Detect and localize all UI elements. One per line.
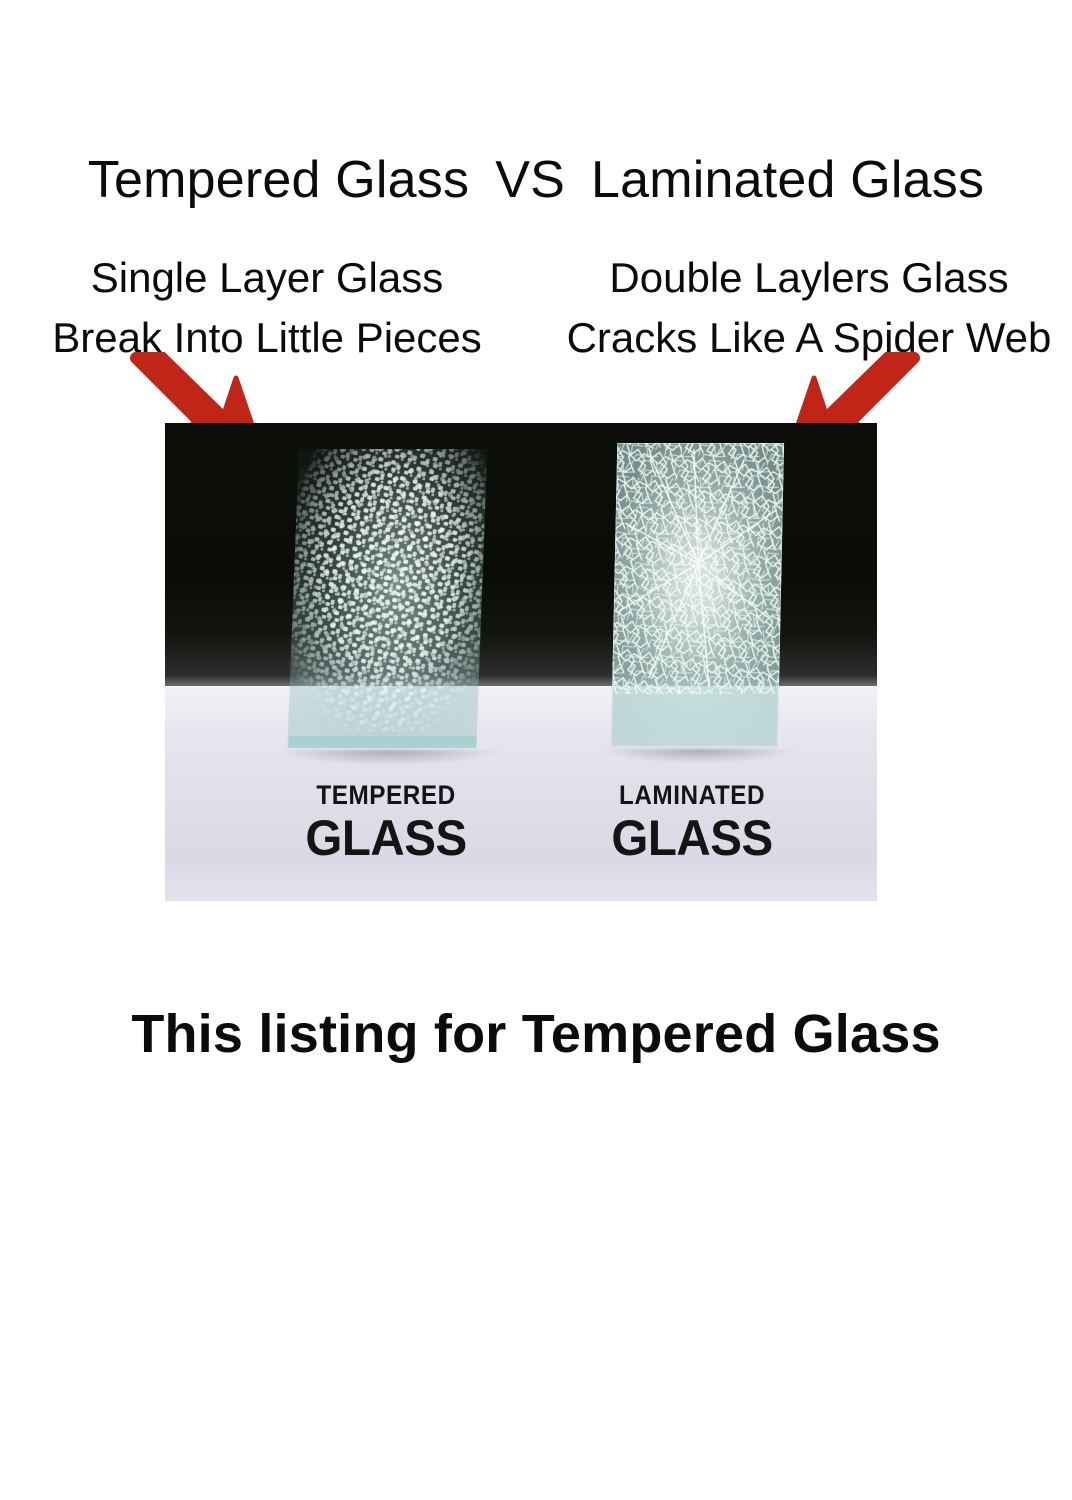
tempered-fragment-pattern xyxy=(288,449,488,732)
tempered-panel-base xyxy=(287,736,478,748)
title-left-term: Tempered Glass xyxy=(88,151,469,209)
photo-label-tempered: TEMPERED GLASS xyxy=(265,782,507,863)
photo-label-laminated-big: GLASS xyxy=(577,813,807,863)
comparison-photo: TEMPERED GLASS LAMINATED GLASS xyxy=(165,423,877,901)
title-versus: VS xyxy=(495,151,565,209)
photo-label-tempered-small: TEMPERED xyxy=(277,782,495,809)
comparison-infographic: Tempered GlassVSLaminated Glass Single L… xyxy=(0,0,1072,1500)
laminated-panel-shadow xyxy=(603,749,795,763)
right-column-description: Double Laylers Glass Cracks Like A Spide… xyxy=(546,248,1072,368)
left-column-description: Single Layer Glass Break Into Little Pie… xyxy=(8,248,526,368)
title-right-term: Laminated Glass xyxy=(591,151,984,209)
right-description-line1: Double Laylers Glass xyxy=(609,254,1008,301)
tempered-glass-panel xyxy=(287,449,487,748)
left-description-line1: Single Layer Glass xyxy=(91,254,444,301)
laminated-glass-panel xyxy=(610,443,784,747)
listing-note: This listing for Tempered Glass xyxy=(0,1003,1072,1065)
photo-label-tempered-big: GLASS xyxy=(271,813,501,863)
photo-label-laminated: LAMINATED GLASS xyxy=(571,782,813,863)
photo-label-laminated-small: LAMINATED xyxy=(583,782,801,809)
laminated-spiderweb-pattern xyxy=(611,443,784,694)
page-title: Tempered GlassVSLaminated Glass xyxy=(0,152,1072,208)
tempered-panel-shadow xyxy=(279,750,500,764)
